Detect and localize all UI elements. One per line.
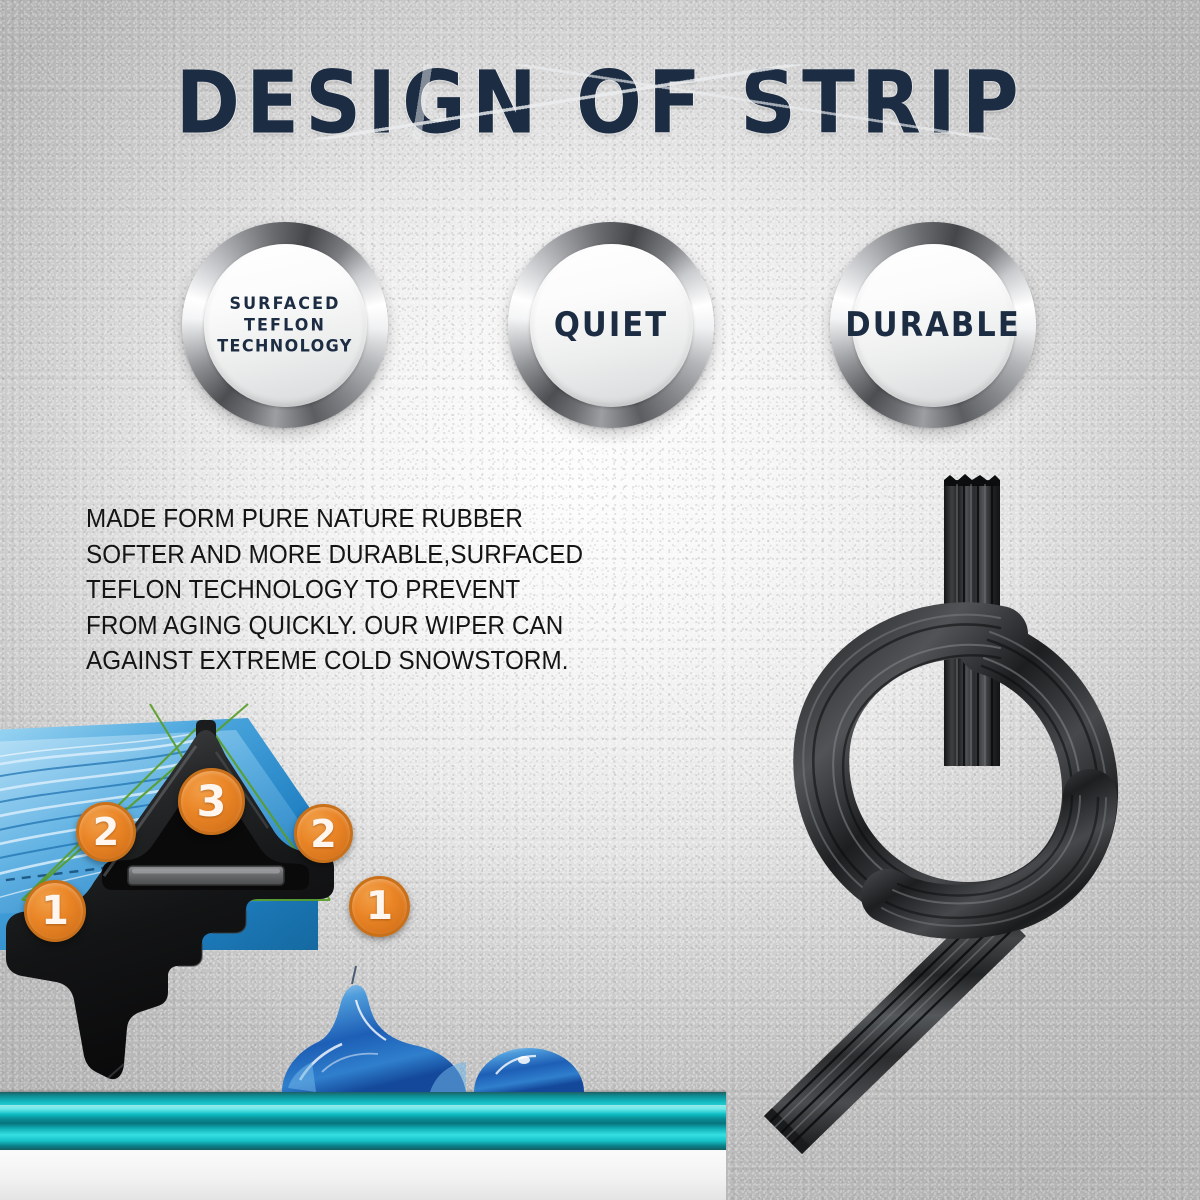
badge-inner-disc: DURABLE (852, 244, 1015, 407)
badge-label: DURABLE (845, 305, 1021, 344)
badge-label-line: QUIET (554, 305, 668, 344)
callout-badge-1-left: 1 (24, 880, 86, 942)
water-splash (282, 966, 584, 1092)
product-description: MADE FORM PURE NATURE RUBBER SOFTER AND … (86, 502, 656, 680)
badge-label-line: DURABLE (845, 305, 1021, 344)
glass-underside (0, 1150, 726, 1200)
feature-badge-durable: DURABLE (830, 222, 1036, 428)
page-title-container: DESIGN OF STRIP (0, 62, 1200, 134)
callout-badge-3-top: 3 (178, 768, 245, 835)
rubber-wiper-strip-photo (738, 466, 1200, 1200)
badge-label-line: TECHNOLOGY (217, 336, 353, 357)
description-line: FROM AGING QUICKLY. OUR WIPER CAN (86, 609, 656, 645)
product-infographic: DESIGN OF STRIP SURFACED TEFLON TECHNOLO… (0, 0, 1200, 1200)
callout-badge-2-left: 2 (76, 802, 136, 862)
callout-badge-1-right: 1 (349, 876, 410, 937)
badge-label: QUIET (554, 305, 668, 344)
feature-badge-surfaced-teflon-technology: SURFACED TEFLON TECHNOLOGY (182, 222, 388, 428)
badge-label-line: TEFLON (217, 314, 353, 335)
wiper-blade-cross-section-diagram (0, 700, 660, 1120)
badge-inner-disc: SURFACED TEFLON TECHNOLOGY (204, 244, 367, 407)
badge-label-line: SURFACED (217, 293, 353, 314)
description-line: SOFTER AND MORE DURABLE,SURFACED (86, 538, 656, 574)
callout-badge-2-right: 2 (294, 804, 353, 863)
badge-inner-disc: QUIET (530, 244, 693, 407)
feature-badge-row: SURFACED TEFLON TECHNOLOGY QUIET DURABLE (0, 222, 1200, 432)
badge-label: SURFACED TEFLON TECHNOLOGY (217, 293, 353, 357)
description-line: MADE FORM PURE NATURE RUBBER (86, 502, 656, 538)
page-title: DESIGN OF STRIP (175, 62, 1024, 144)
description-line: TEFLON TECHNOLOGY TO PREVENT (86, 573, 656, 609)
feature-badge-quiet: QUIET (508, 222, 714, 428)
strip-loop-front-crossing (882, 796, 1106, 926)
description-line: AGAINST EXTREME COLD SNOWSTORM. (86, 644, 656, 680)
